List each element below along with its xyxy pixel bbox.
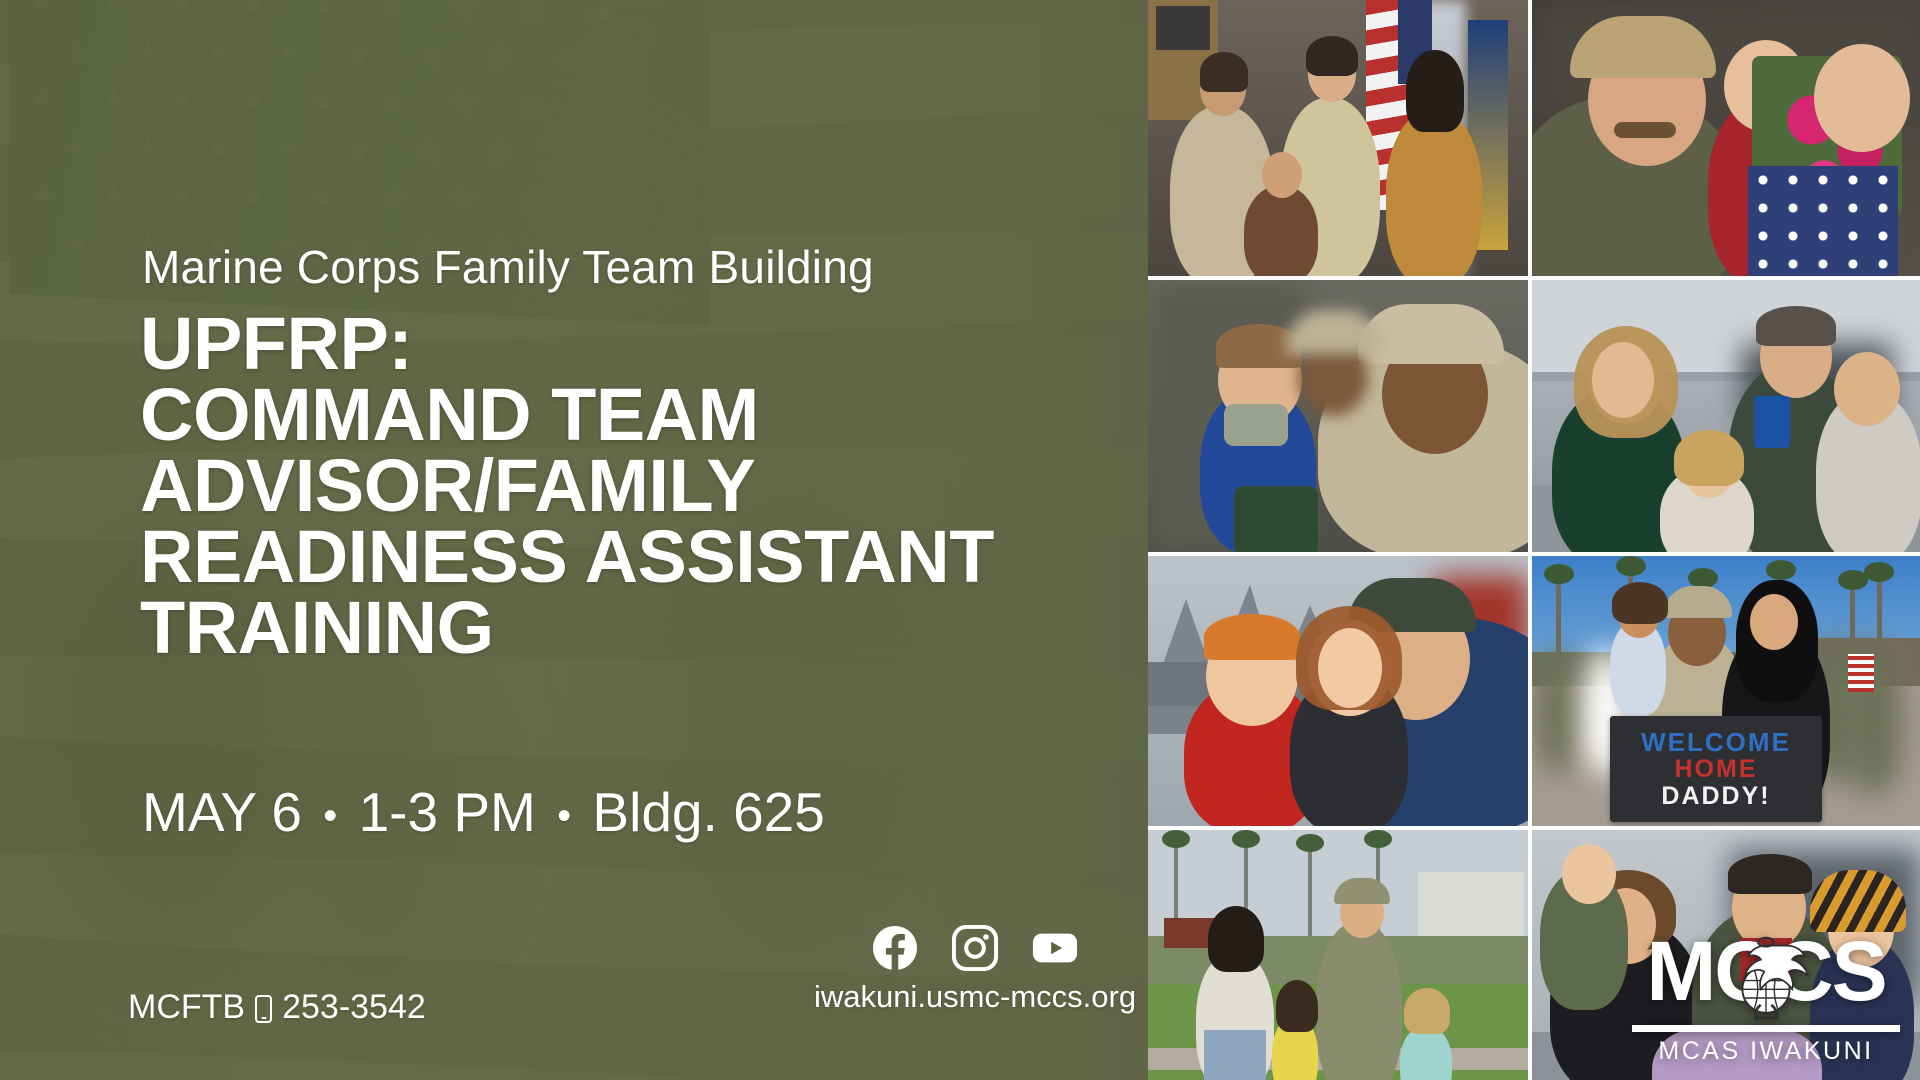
photo-sailor-and-redhead-baby [1148,556,1528,826]
mccs-divider [1632,1025,1900,1032]
contact-info: MCFTB 253-3542 [128,988,426,1027]
youtube-icon[interactable] [1032,925,1078,971]
facebook-icon[interactable] [872,925,918,971]
event-location: Bldg. 625 [592,781,824,843]
contact-label: MCFTB [128,988,245,1027]
website-link[interactable]: iwakuni.usmc-mccs.org [795,979,1150,1015]
phone-number[interactable]: 253-3542 [282,988,426,1027]
event-time: 1-3 PM [359,781,536,843]
details-separator-2: • [551,794,577,838]
poster-canvas: Marine Corps Family Team Building UPFRP:… [0,0,1920,1080]
mccs-installation: MCAS IWAKUNI [1632,1037,1900,1066]
title-line-1: UPFRP: [140,308,1140,379]
welcome-home-sign: WELCOME HOME DADDY! [1610,716,1822,822]
photo-family-hangar-hug [1532,280,1920,552]
photo-family-ceremony [1148,0,1528,276]
sign-line-3: DADDY! [1661,783,1770,809]
photo-collage: WELCOME HOME DADDY! [1148,0,1920,1080]
organization-name: Marine Corps Family Team Building [142,240,874,294]
left-panel: Marine Corps Family Team Building UPFRP:… [0,0,1150,1080]
title-line-4: READINESS ASSISTANT [140,521,1140,592]
social-block: iwakuni.usmc-mccs.org [795,925,1150,1015]
mccs-logo: MCCS M [1632,934,1900,1066]
title-line-3: ADVISOR/FAMILY [140,450,1140,521]
instagram-icon[interactable] [952,925,998,971]
photo-pilot-family-reunion: MCCS M [1532,830,1920,1080]
text-content: Marine Corps Family Team Building UPFRP:… [0,0,1150,1080]
photo-father-with-baby [1532,0,1920,276]
photo-family-walking [1148,830,1528,1080]
photo-marine-holding-child [1148,280,1528,552]
photo-welcome-home-sign: WELCOME HOME DADDY! [1532,556,1920,826]
mccs-wordmark: MCCS [1632,934,1900,1018]
mobile-phone-icon [255,995,272,1023]
event-date: MAY 6 [142,781,302,843]
details-separator-1: • [317,794,343,838]
event-details: MAY 6 • 1-3 PM • Bldg. 625 [142,780,825,844]
social-icons [795,925,1150,971]
sign-line-1: WELCOME [1641,729,1791,756]
eagle-globe-anchor-icon [1722,930,1810,1026]
title-line-2: COMMAND TEAM [140,379,1140,450]
title-line-5: TRAINING [140,592,1140,663]
page-title: UPFRP: COMMAND TEAM ADVISOR/FAMILY READI… [140,308,1140,663]
sign-line-2: HOME [1675,756,1758,782]
